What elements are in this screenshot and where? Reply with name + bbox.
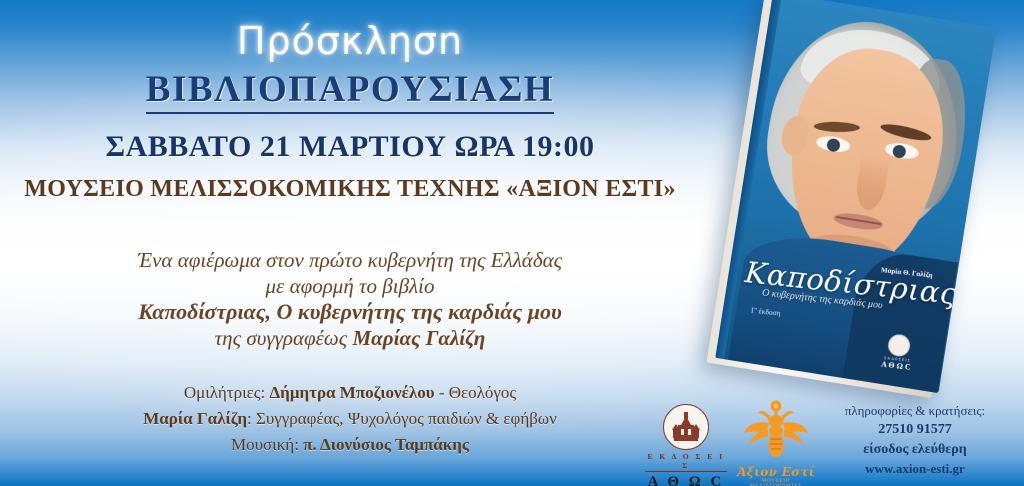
event-datetime: ΣΑΒΒΑΤΟ 21 ΜΑΡΤΙΟΥ ΩΡΑ 19:00 (0, 130, 700, 164)
contact-phone[interactable]: 27510 91577 (820, 420, 1010, 440)
event-venue: ΜΟΥΣΕΙΟ ΜΕΛΙΣΣΟΚΟΜΙΚΗΣ ΤΕΧΝΗΣ «ΑΞΙΟΝ ΕΣΤ… (0, 176, 700, 203)
speakers-line-1: Ομιλήτριες: Δήμητρα Μποζιονέλου - Θεολόγ… (0, 380, 700, 406)
book-cover-publisher-logo: ΕΚΔΟΣΕΙΣ ΑΘΩC (877, 332, 921, 372)
contact-block: πληροφορίες & κρατήσεις: 27510 91577 είσ… (820, 402, 1010, 479)
contact-website[interactable]: www.axion-esti.gr (820, 460, 1010, 478)
book-monastery-emblem-icon (887, 333, 911, 357)
speakers-block: Ομιλήτριες: Δήμητρα Μποζιονέλου - Θεολόγ… (0, 380, 700, 457)
publisher-label: Ε Κ Δ Ο Σ Ε Ι Σ (645, 452, 727, 472)
monastery-emblem-icon (663, 404, 709, 450)
museum-logo-subname: ΜΟΥΣΕΙΟ ΜΕΛΙΣΣΟΚΟΜΙΑΣ (736, 479, 816, 486)
featured-book-title: Καποδίστριας, Ο κυβερνήτης της καρδιάς μ… (0, 299, 700, 326)
speaker-1-name: Δήμητρα Μποζιονέλου (270, 383, 435, 402)
music-performer-name: π. Διονύσιος Ταμπάκης (303, 435, 469, 454)
description-line-1: Ένα αφιέρωμα στον πρώτο κυβερνήτη της Ελ… (0, 248, 700, 274)
book-cover-image: Καποδίστριας Ο κυβερνήτης της καρδιάς μο… (714, 0, 1001, 404)
contact-label: πληροφορίες & κρατήσεις: (820, 402, 1010, 420)
speaker-1-role: - Θεολόγος (435, 383, 517, 402)
speaker-2-name: Μαρία Γαλίζη (143, 409, 247, 428)
invitation-title: Πρόσκλησn (0, 22, 700, 62)
featured-book-author-line: της συγγραφέως Μαρίας Γαλίζη (0, 326, 700, 352)
speaker-2-role: : Συγγραφέας, Ψυχολόγος παιδιών & εφήβων (247, 409, 557, 428)
speakers-line-3: Μουσική: π. Διονύσιος Ταμπάκης (0, 432, 700, 458)
author-prefix: της συγγραφέως (215, 326, 353, 350)
headline-block: Πρόσκλησn ΒΙΒΛΙΟΠΑΡΟΥΣΙΑΣΗ ΣΑΒΒΑΤΟ 21 ΜΑ… (0, 22, 700, 203)
speakers-label: Ομιλήτριες: (184, 383, 270, 402)
event-type-title: ΒΙΒΛΙΟΠΑΡΟΥΣΙΑΣΗ (146, 70, 554, 114)
museum-logo-name: Άξιον Εστί (736, 465, 816, 479)
entry-fee-note: είσοδος ελεύθερη (820, 440, 1010, 460)
description-block: Ένα αφιέρωμα στον πρώτο κυβερνήτη της Ελ… (0, 248, 700, 352)
museum-logo: Άξιον Εστί ΜΟΥΣΕΙΟ ΜΕΛΙΣΣΟΚΟΜΙΑΣ (736, 400, 816, 486)
music-label: Μουσική: (231, 435, 303, 454)
description-line-2: με αφορμή το βιβλίο (0, 274, 700, 300)
speakers-line-2: Μαρία Γαλίζη: Συγγραφέας, Ψυχολόγος παιδ… (0, 406, 700, 432)
publisher-logo: Ε Κ Δ Ο Σ Ε Ι Σ Α Θ Ω C (645, 404, 727, 486)
author-name: Μαρίας Γαλίζη (353, 326, 486, 350)
publisher-name: Α Θ Ω C (645, 474, 727, 486)
event-poster: Πρόσκλησn ΒΙΒΛΙΟΠΑΡΟΥΣΙΑΣΗ ΣΑΒΒΑΤΟ 21 ΜΑ… (0, 0, 1024, 486)
bee-icon (736, 400, 816, 467)
